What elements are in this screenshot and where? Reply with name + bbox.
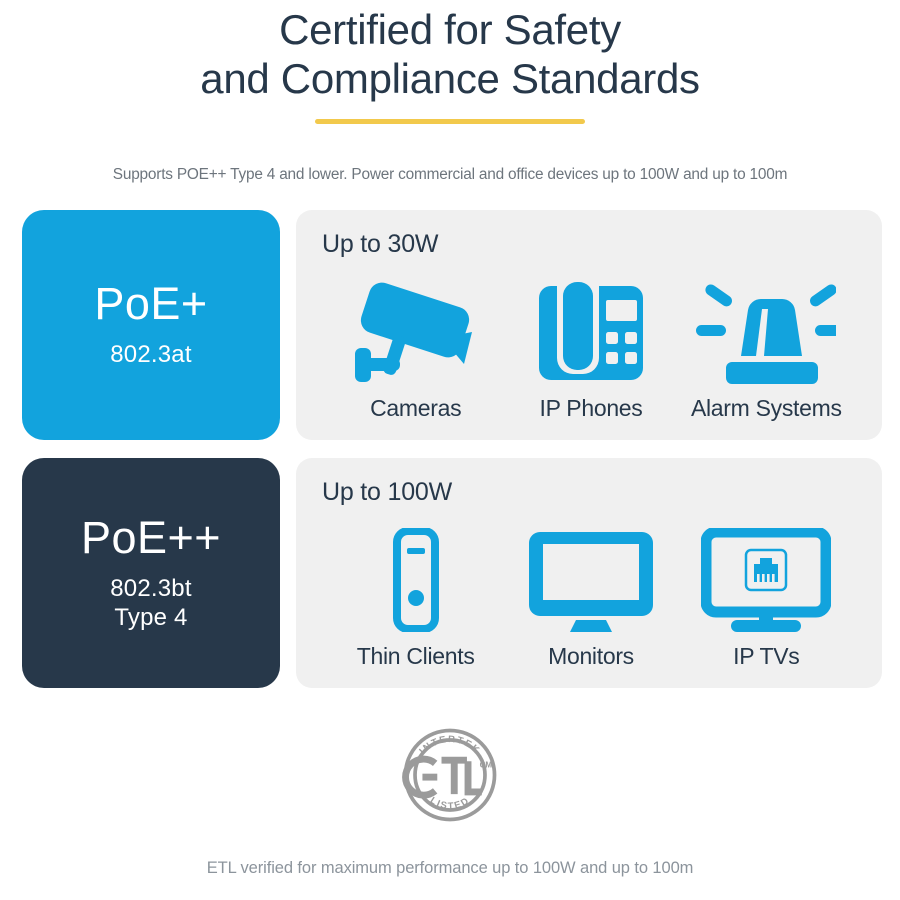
device-label: Thin Clients: [357, 643, 475, 670]
tier-badge-poe-plus: PoE+ 802.3at: [22, 210, 280, 440]
page-title-line-2: and Compliance Standards: [0, 55, 900, 104]
panel-power-title: Up to 30W: [322, 230, 860, 259]
thin-client-tower-icon: [381, 521, 451, 639]
tier-badge-poe-plus-plus: PoE++ 802.3bt Type 4: [22, 458, 280, 688]
logo-bottom-arc-text: LISTED: [428, 795, 472, 812]
certification-section: INTERTEK LISTED CM ETL verified for maxi…: [0, 722, 900, 878]
certification-caption: ETL verified for maximum performance up …: [207, 859, 694, 878]
tier-badge-standard: 802.3bt Type 4: [110, 574, 191, 633]
gold-divider-rule: [315, 119, 585, 124]
device-item-ip-phones: IP Phones: [503, 273, 678, 422]
device-label: Alarm Systems: [691, 395, 842, 422]
tier-rows: PoE+ 802.3at Up to 30W: [0, 210, 900, 688]
ip-phone-icon: [535, 273, 647, 391]
security-camera-icon: [350, 273, 482, 391]
device-item-thin-clients: Thin Clients: [328, 521, 503, 670]
monitor-icon: [526, 521, 656, 639]
device-item-monitors: Monitors: [503, 521, 678, 670]
device-item-alarm-systems: Alarm Systems: [679, 273, 854, 422]
tier-panel-30w: Up to 30W: [296, 210, 882, 440]
alarm-siren-icon: [696, 273, 836, 391]
tier-badge-title: PoE++: [81, 515, 221, 560]
device-label: Monitors: [548, 643, 634, 670]
tier-badge-title: PoE+: [94, 281, 207, 326]
tier-badge-standard-line-1: 802.3bt: [110, 574, 191, 603]
device-item-ip-tvs: IP TVs: [679, 521, 854, 670]
page-title-line-1: Certified for Safety: [0, 6, 900, 55]
etl-intertek-listed-logo: INTERTEK LISTED CM: [397, 722, 503, 833]
svg-text:LISTED: LISTED: [428, 795, 472, 812]
tier-row-poe-plus-plus: PoE++ 802.3bt Type 4 Up to 100W: [22, 458, 882, 688]
device-list-30w: Cameras: [322, 259, 860, 426]
logo-superscript-text: CM: [480, 761, 493, 770]
subheading-text: Supports POE++ Type 4 and lower. Power c…: [0, 166, 900, 184]
device-item-cameras: Cameras: [328, 273, 503, 422]
header: Certified for Safety and Compliance Stan…: [0, 0, 900, 124]
tier-badge-standard: 802.3at: [110, 340, 191, 369]
device-label: IP TVs: [733, 643, 799, 670]
device-list-100w: Thin Clients: [322, 507, 860, 674]
ip-tv-icon: [701, 521, 831, 639]
poe-certification-infographic: Certified for Safety and Compliance Stan…: [0, 0, 900, 900]
tier-row-poe-plus: PoE+ 802.3at Up to 30W: [22, 210, 882, 440]
panel-power-title: Up to 100W: [322, 478, 860, 507]
tier-panel-100w: Up to 100W Thin Clients: [296, 458, 882, 688]
device-label: IP Phones: [539, 395, 642, 422]
tier-badge-standard-line-2: Type 4: [110, 603, 191, 632]
device-label: Cameras: [370, 395, 461, 422]
